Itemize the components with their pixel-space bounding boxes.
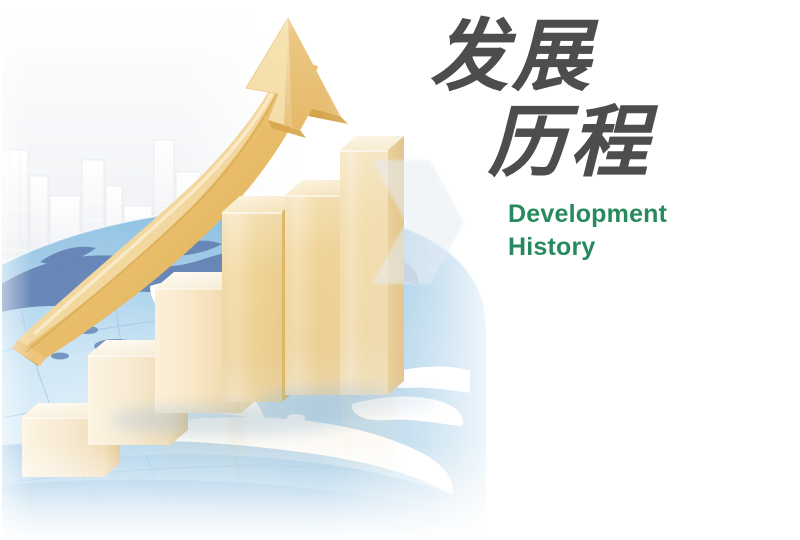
title-chinese-line-2: 历程 [488,104,760,182]
title-chinese-line-1: 发展 [430,18,760,96]
development-history-banner: 发展 历程 Development History [0,0,800,540]
title-block: 发展 历程 Development History [430,18,760,264]
title-english: Development History [508,198,760,264]
title-english-line-2: History [508,231,760,264]
title-english-line-1: Development [508,198,760,231]
